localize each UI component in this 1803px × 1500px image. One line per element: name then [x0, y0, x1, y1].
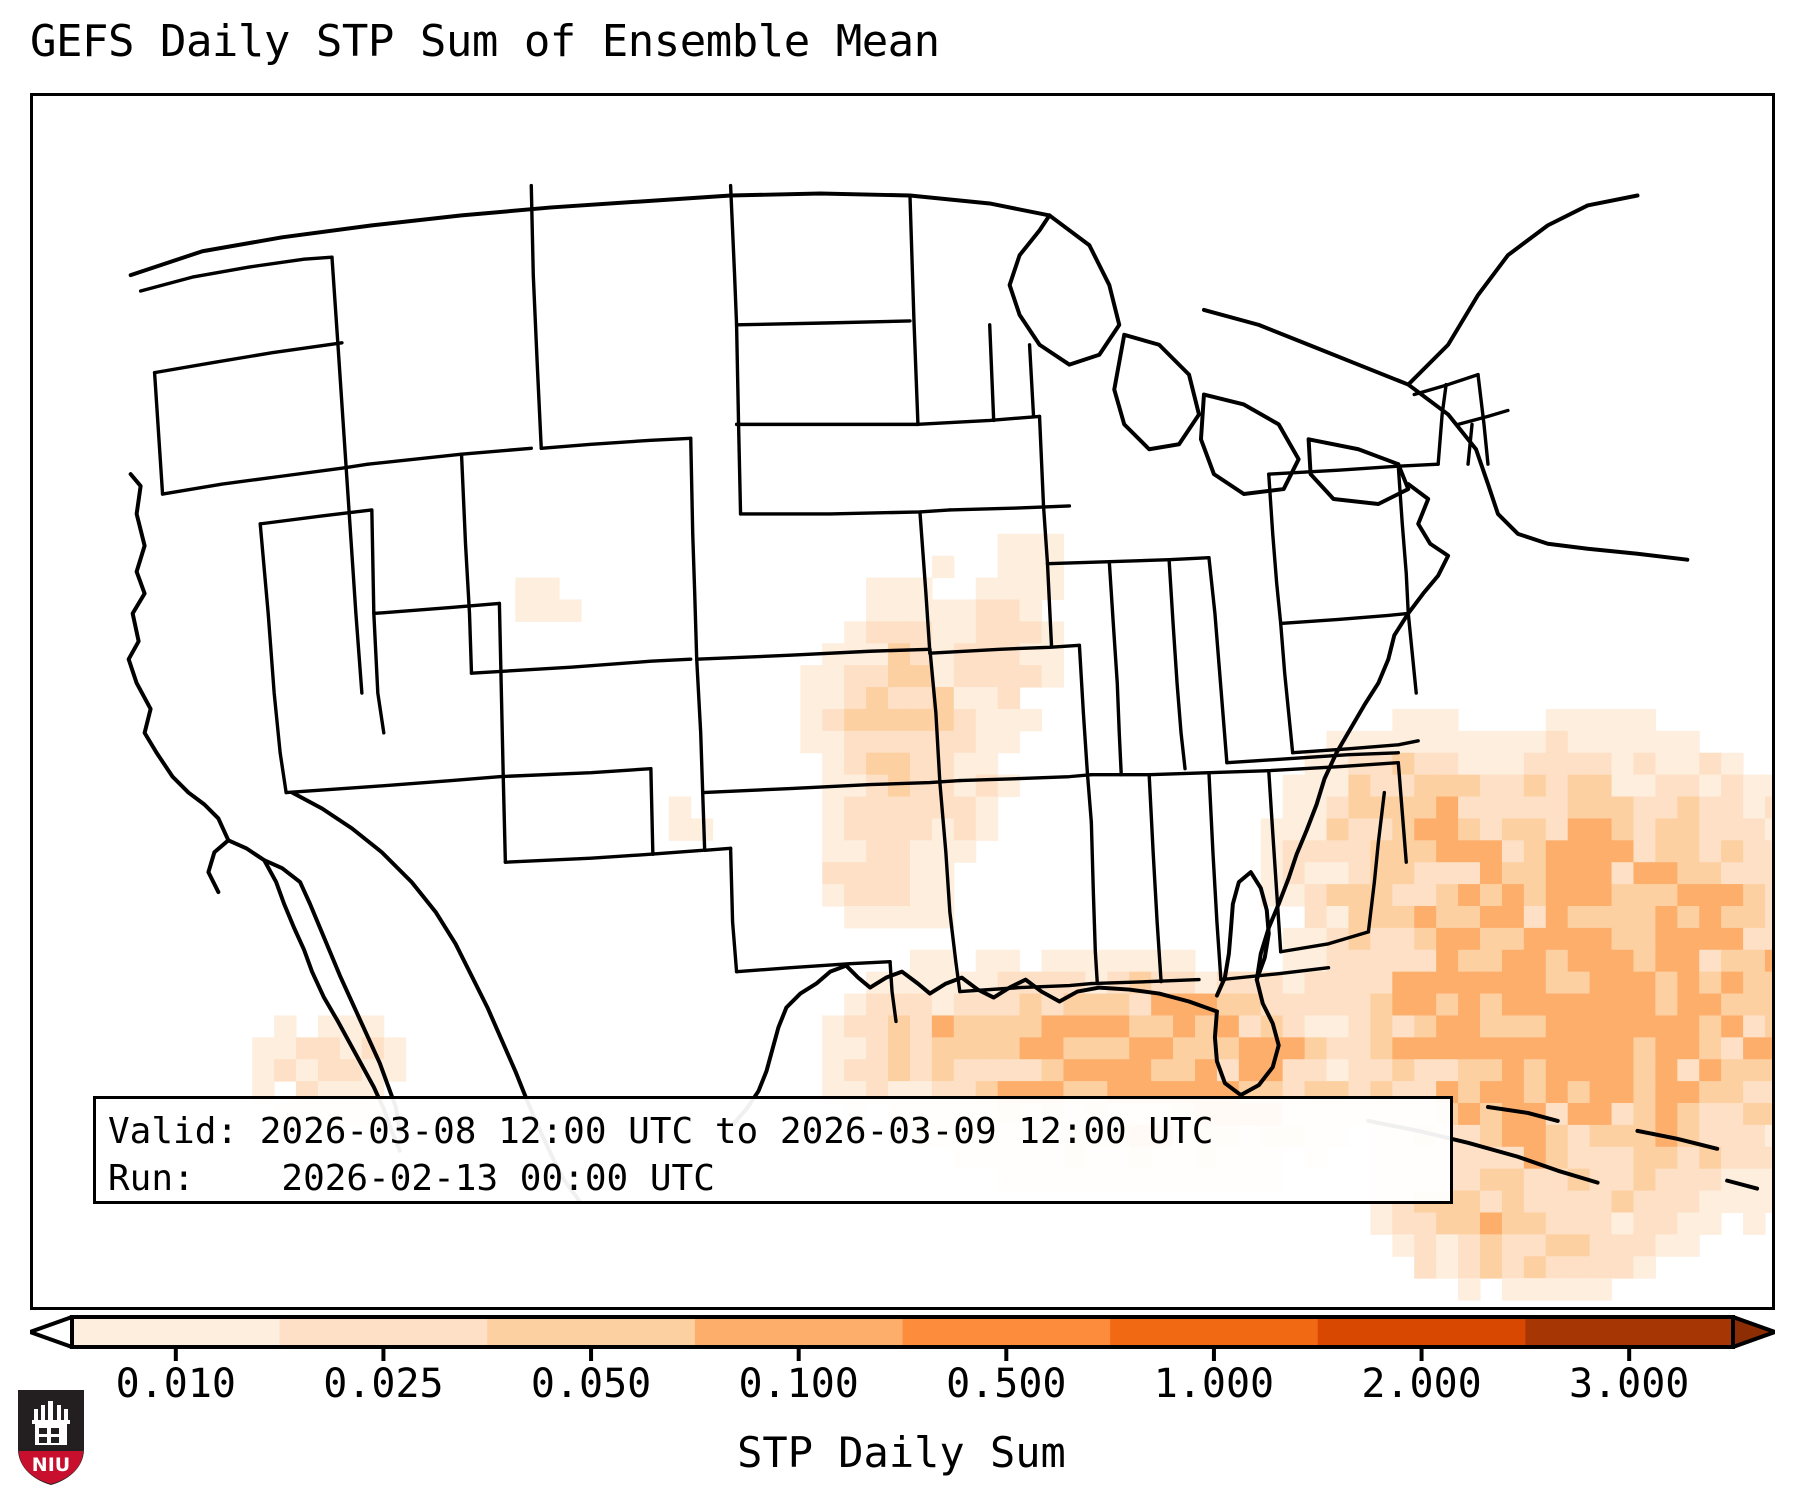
coastline-pacific	[129, 474, 229, 892]
colorbar-segment	[1525, 1317, 1733, 1347]
colorbar-gradient	[30, 1313, 1775, 1363]
colorbar-segment	[1110, 1317, 1318, 1347]
colorbar-axis-label: STP Daily Sum	[0, 1428, 1803, 1477]
page-title: GEFS Daily STP Sum of Ensemble Mean	[30, 16, 940, 67]
colorbar-segment	[72, 1317, 280, 1347]
valid-run-annotation: Valid: 2026-03-08 12:00 UTC to 2026-03-0…	[93, 1096, 1453, 1204]
coastline-east-canada	[1204, 196, 1638, 385]
coastline-atlantic-north	[1408, 385, 1687, 560]
colorbar-tick-label: 0.100	[738, 1361, 858, 1407]
colorbar-tick-label: 0.500	[946, 1361, 1066, 1407]
colorbar-tick-label: 3.000	[1569, 1361, 1689, 1407]
valid-line: Valid: 2026-03-08 12:00 UTC to 2026-03-0…	[108, 1108, 1450, 1155]
colorbar-segment	[695, 1317, 903, 1347]
colorbar-segment	[903, 1317, 1111, 1347]
colorbar-tick-labels: 0.0100.0250.0500.1000.5001.0002.0003.000	[30, 1361, 1775, 1411]
logo-text: NIU	[32, 1454, 70, 1476]
colorbar-tick-label: 2.000	[1361, 1361, 1481, 1407]
colorbar-tick-label: 1.000	[1154, 1361, 1274, 1407]
colorbar-over-arrow	[1733, 1317, 1775, 1347]
run-line: Run: 2026-02-13 00:00 UTC	[108, 1155, 1450, 1202]
colorbar-tick-label: 0.025	[323, 1361, 443, 1407]
colorbar-segment	[487, 1317, 695, 1347]
colorbar-segment	[280, 1317, 488, 1347]
state-borders	[141, 186, 1508, 1022]
map-panel[interactable]: Valid: 2026-03-08 12:00 UTC to 2026-03-0…	[30, 93, 1775, 1310]
coastline-atlantic-us	[1215, 484, 1448, 1095]
colorbar-tick-label: 0.050	[531, 1361, 651, 1407]
colorbar-under-arrow	[30, 1317, 72, 1347]
map-figure: GEFS Daily STP Sum of Ensemble Mean	[0, 0, 1803, 1500]
colorbar-tick-label: 0.010	[116, 1361, 236, 1407]
colorbar-segment	[1318, 1317, 1526, 1347]
niu-logo: NIU	[14, 1387, 88, 1487]
colorbar[interactable]: 0.0100.0250.0500.1000.5001.0002.0003.000	[30, 1313, 1775, 1363]
